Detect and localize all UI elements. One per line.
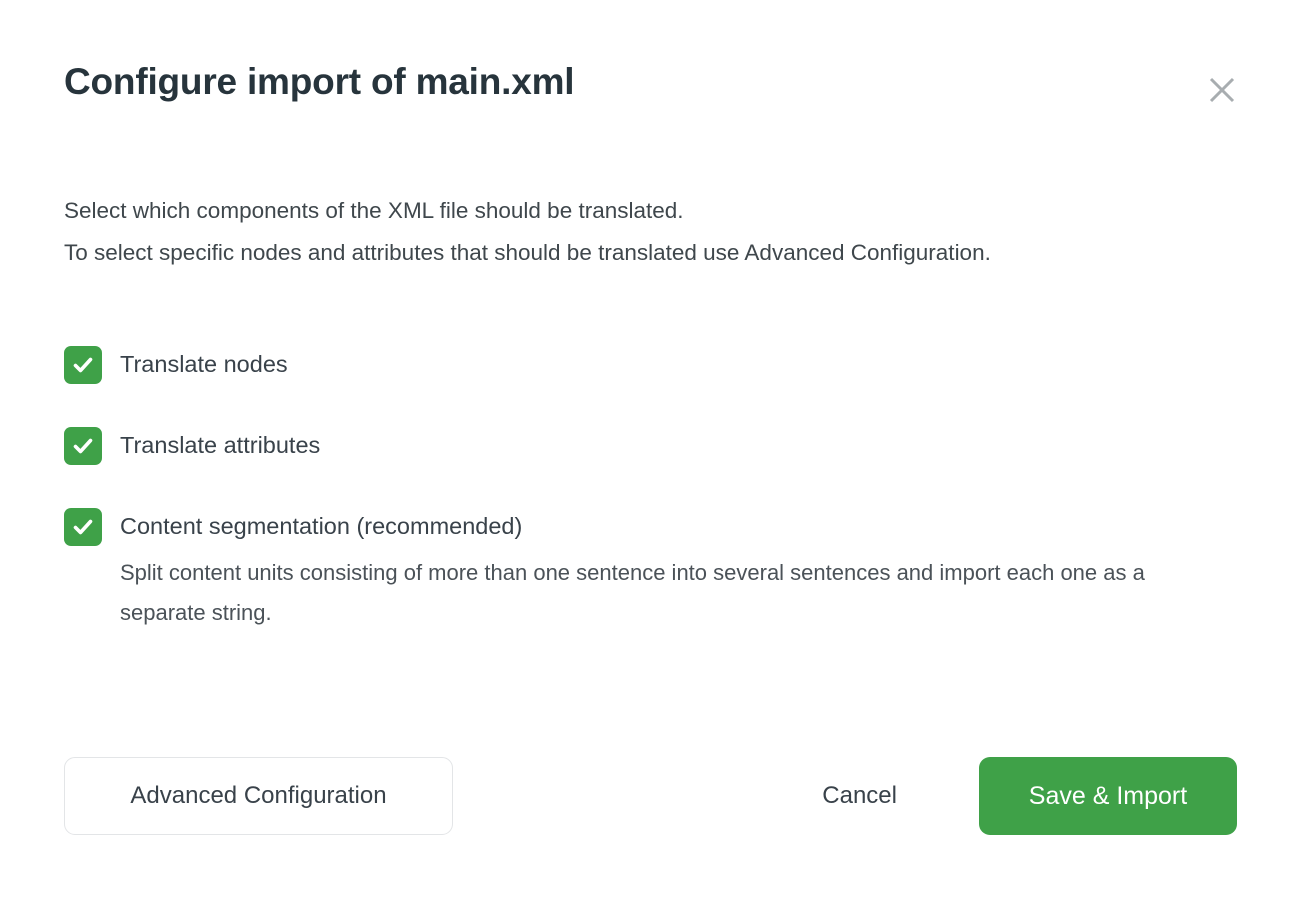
option-label-translate-attributes[interactable]: Translate attributes [120,427,320,463]
check-icon [71,434,95,458]
advanced-configuration-button[interactable]: Advanced Configuration [64,757,453,835]
checkbox-translate-nodes[interactable] [64,346,102,384]
dialog-description: Select which components of the XML file … [64,190,1099,274]
options-list: Translate nodes Translate attributes [64,345,1234,633]
check-icon [71,353,95,377]
option-translate-nodes[interactable]: Translate nodes [64,345,1234,384]
description-line-2: To select specific nodes and attributes … [64,232,1099,274]
option-texts: Translate attributes [120,426,320,463]
option-label-content-segmentation[interactable]: Content segmentation (recommended) [120,508,1220,544]
dialog-footer: Advanced Configuration Cancel Save & Imp… [64,757,1237,835]
checkbox-content-segmentation[interactable] [64,508,102,546]
option-label-translate-nodes[interactable]: Translate nodes [120,346,288,382]
save-and-import-button[interactable]: Save & Import [979,757,1237,835]
description-line-1: Select which components of the XML file … [64,190,1099,232]
configure-import-dialog: Configure import of main.xml Select whic… [0,0,1300,900]
footer-actions: Cancel Save & Import [794,757,1237,835]
option-texts: Translate nodes [120,345,288,382]
cancel-button[interactable]: Cancel [794,757,925,835]
page-title: Configure import of main.xml [64,62,1244,103]
option-help-content-segmentation: Split content units consisting of more t… [120,553,1220,633]
dialog-header: Configure import of main.xml [64,62,1244,128]
checkbox-translate-attributes[interactable] [64,427,102,465]
option-translate-attributes[interactable]: Translate attributes [64,426,1234,465]
option-texts: Content segmentation (recommended) Split… [120,507,1220,633]
option-content-segmentation[interactable]: Content segmentation (recommended) Split… [64,507,1234,633]
close-button[interactable] [1200,68,1244,112]
close-icon [1207,75,1237,105]
check-icon [71,515,95,539]
